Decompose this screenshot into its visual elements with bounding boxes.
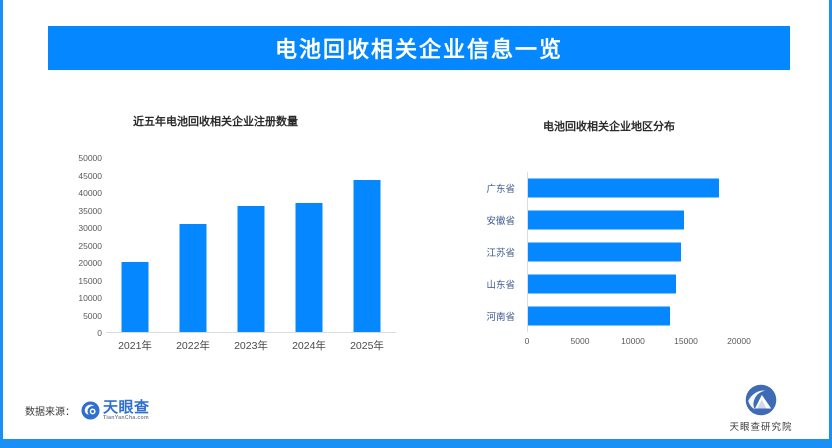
left-chart-bar[interactable] bbox=[238, 206, 265, 332]
data-source: 数据来源： 天眼查 TianYanCha.com bbox=[25, 400, 150, 421]
left-chart-bar-slot bbox=[280, 158, 338, 332]
right-chart-bar[interactable] bbox=[528, 307, 670, 326]
research-institute-brand: 天眼查研究院 bbox=[719, 383, 803, 433]
right-chart-category-axis: 广东省安徽省江苏省山东省河南省 bbox=[469, 172, 521, 332]
right-chart-category-label: 山东省 bbox=[486, 277, 515, 291]
right-chart-title: 电池回收相关企业地区分布 bbox=[543, 118, 675, 134]
left-chart-y-tick: 30000 bbox=[78, 223, 102, 233]
right-chart-category-label: 江苏省 bbox=[486, 245, 515, 259]
right-chart-bar[interactable] bbox=[528, 211, 684, 230]
left-chart-bar-slot bbox=[338, 158, 396, 332]
left-chart-bar[interactable] bbox=[354, 180, 381, 332]
bottom-accent-bar bbox=[0, 439, 832, 448]
left-chart-x-tick: 2025年 bbox=[338, 338, 396, 353]
left-chart-y-tick: 20000 bbox=[78, 258, 102, 268]
infographic-page: 电池回收相关企业信息一览 近五年电池回收相关企业注册数量 50000450004… bbox=[0, 0, 832, 448]
right-chart-category-label: 河南省 bbox=[486, 309, 515, 323]
left-chart-x-tick: 2023年 bbox=[222, 338, 280, 353]
left-chart-x-tick: 2021年 bbox=[106, 338, 164, 353]
left-chart-bar[interactable] bbox=[122, 262, 149, 332]
left-chart-y-tick: 0 bbox=[97, 328, 102, 338]
left-chart-x-tick: 2022年 bbox=[164, 338, 222, 353]
left-chart-y-axis: 5000045000400003500030000250002000015000… bbox=[58, 158, 102, 333]
right-chart-category-label: 安徽省 bbox=[486, 213, 515, 227]
tianyancha-logo: 天眼查 TianYanCha.com bbox=[81, 400, 150, 421]
right-chart-x-tick: 20000 bbox=[727, 336, 751, 346]
right-chart-bar-slot bbox=[528, 236, 739, 268]
left-chart-title: 近五年电池回收相关企业注册数量 bbox=[133, 113, 298, 129]
left-chart-bar-slot bbox=[106, 158, 164, 332]
right-chart-bar[interactable] bbox=[528, 275, 676, 294]
left-chart-y-tick: 15000 bbox=[78, 276, 102, 286]
right-chart-category-label: 广东省 bbox=[486, 181, 515, 195]
right-chart-bar-slot bbox=[528, 204, 739, 236]
header-banner: 电池回收相关企业信息一览 bbox=[48, 26, 790, 70]
right-chart-x-tick: 5000 bbox=[571, 336, 590, 346]
right-chart-bar[interactable] bbox=[528, 179, 719, 198]
right-chart-bar[interactable] bbox=[528, 243, 681, 262]
left-chart-y-tick: 25000 bbox=[78, 241, 102, 251]
right-chart-x-tick: 10000 bbox=[621, 336, 645, 346]
left-chart-plot-area bbox=[106, 158, 396, 333]
left-chart-x-tick: 2024年 bbox=[280, 338, 338, 353]
right-chart-plot-area bbox=[527, 172, 739, 332]
left-chart-y-tick: 10000 bbox=[78, 293, 102, 303]
data-source-label: 数据来源： bbox=[25, 403, 75, 418]
left-chart-bar[interactable] bbox=[296, 203, 323, 333]
tianyancha-name: 天眼查 bbox=[103, 400, 150, 415]
right-chart-x-tick: 15000 bbox=[674, 336, 698, 346]
right-chart-bar-slot bbox=[528, 300, 739, 332]
research-institute-name: 天眼查研究院 bbox=[729, 419, 792, 433]
left-chart-y-tick: 50000 bbox=[78, 153, 102, 163]
left-chart-bar[interactable] bbox=[180, 224, 207, 333]
left-chart-y-tick: 45000 bbox=[78, 171, 102, 181]
region-distribution-bar-chart: 广东省安徽省江苏省山东省河南省 05000100001500020000 bbox=[469, 172, 799, 362]
left-chart-bar-slot bbox=[222, 158, 280, 332]
right-chart-x-axis: 05000100001500020000 bbox=[527, 336, 739, 354]
right-chart-x-tick: 0 bbox=[525, 336, 530, 346]
left-chart-bar-slot bbox=[164, 158, 222, 332]
right-chart-bar-slot bbox=[528, 172, 739, 204]
research-institute-logo-icon bbox=[744, 383, 778, 417]
left-chart-y-tick: 40000 bbox=[78, 188, 102, 198]
tianyancha-eye-icon bbox=[81, 401, 100, 420]
left-chart-x-axis: 2021年2022年2023年2024年2025年 bbox=[106, 338, 396, 358]
registrations-bar-chart: 5000045000400003500030000250002000015000… bbox=[58, 158, 403, 358]
tianyancha-wordmark: 天眼查 TianYanCha.com bbox=[103, 400, 150, 421]
left-chart-y-tick: 35000 bbox=[78, 206, 102, 216]
right-chart-bar-slot bbox=[528, 268, 739, 300]
tianyancha-domain: TianYanCha.com bbox=[103, 416, 150, 421]
page-title: 电池回收相关企业信息一览 bbox=[275, 32, 563, 64]
left-chart-y-tick: 5000 bbox=[83, 311, 102, 321]
